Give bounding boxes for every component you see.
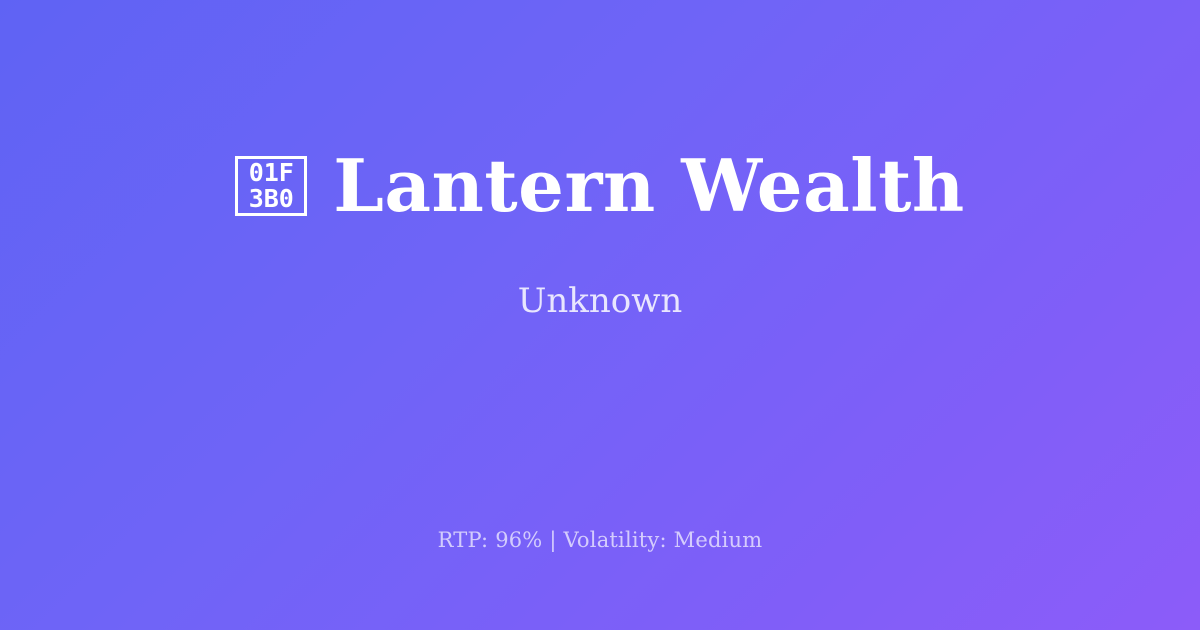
card-center-block: 01F 3B0 Lantern Wealth Unknown bbox=[0, 0, 1200, 470]
page-subtitle: Unknown bbox=[518, 223, 683, 322]
page-title: Lantern Wealth bbox=[333, 148, 964, 224]
game-stats-text: RTP: 96% | Volatility: Medium bbox=[438, 528, 763, 552]
glyph-codepoint-line-2: 3B0 bbox=[249, 186, 294, 212]
og-card: 01F 3B0 Lantern Wealth Unknown RTP: 96% … bbox=[0, 0, 1200, 630]
slot-machine-icon: 01F 3B0 bbox=[235, 156, 307, 216]
card-footer: RTP: 96% | Volatility: Medium bbox=[0, 528, 1200, 553]
title-row: 01F 3B0 Lantern Wealth bbox=[235, 148, 964, 224]
glyph-codepoint-line-1: 01F bbox=[249, 160, 294, 186]
